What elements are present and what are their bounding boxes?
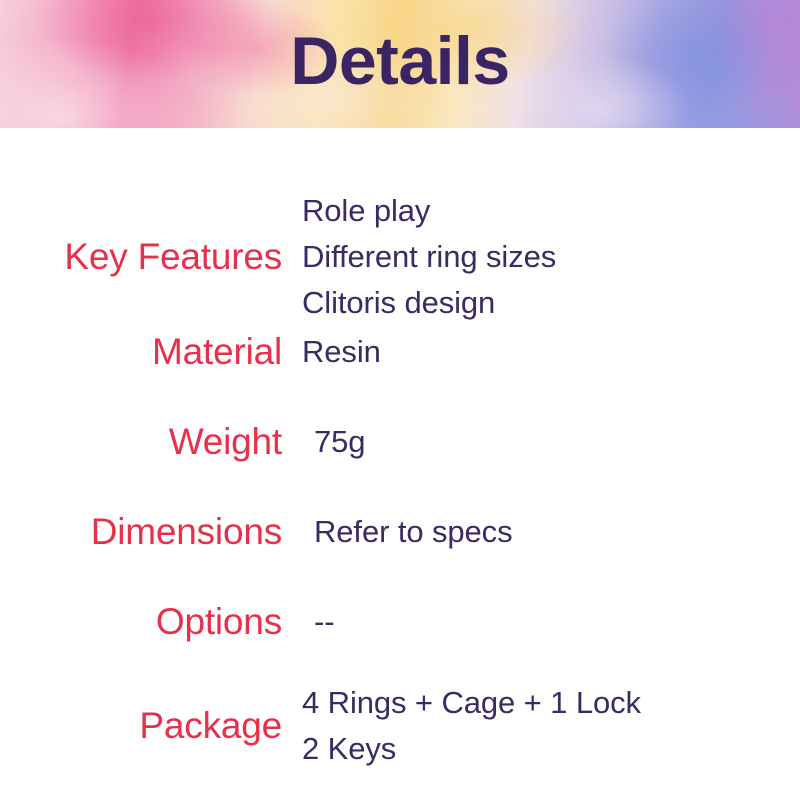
details-page: Details Key Features Role play Different… <box>0 0 800 800</box>
value-line: Role play <box>302 188 800 234</box>
table-row: Options -- <box>0 591 800 653</box>
table-row: Material Resin <box>0 321 800 383</box>
table-row: Package 4 Rings + Cage + 1 Lock 2 Keys <box>0 671 800 781</box>
spec-label-key-features: Key Features <box>0 236 282 277</box>
page-title: Details <box>0 0 800 128</box>
value-line: 75g <box>314 419 800 465</box>
spec-label-package: Package <box>0 705 282 746</box>
spec-value-dimensions: Refer to specs <box>282 509 800 555</box>
value-line: 2 Keys <box>302 726 800 772</box>
spec-label-material: Material <box>0 331 282 372</box>
spec-value-package: 4 Rings + Cage + 1 Lock 2 Keys <box>282 680 800 772</box>
table-row: Key Features Role play Different ring si… <box>0 181 800 333</box>
value-line: Refer to specs <box>314 509 800 555</box>
spec-label-dimensions: Dimensions <box>0 511 282 552</box>
spec-label-weight: Weight <box>0 421 282 462</box>
value-line: Clitoris design <box>302 280 800 326</box>
spec-value-weight: 75g <box>282 419 800 465</box>
value-line: Different ring sizes <box>302 234 800 280</box>
table-row: Dimensions Refer to specs <box>0 501 800 563</box>
spec-table: Key Features Role play Different ring si… <box>0 128 800 800</box>
page-header-banner: Details <box>0 0 800 128</box>
value-line: Resin <box>302 329 800 375</box>
value-line: 4 Rings + Cage + 1 Lock <box>302 680 800 726</box>
spec-value-options: -- <box>282 599 800 645</box>
spec-value-key-features: Role play Different ring sizes Clitoris … <box>282 188 800 326</box>
spec-value-material: Resin <box>282 329 800 375</box>
spec-label-options: Options <box>0 601 282 642</box>
table-row: Weight 75g <box>0 411 800 473</box>
value-line: -- <box>314 599 800 645</box>
